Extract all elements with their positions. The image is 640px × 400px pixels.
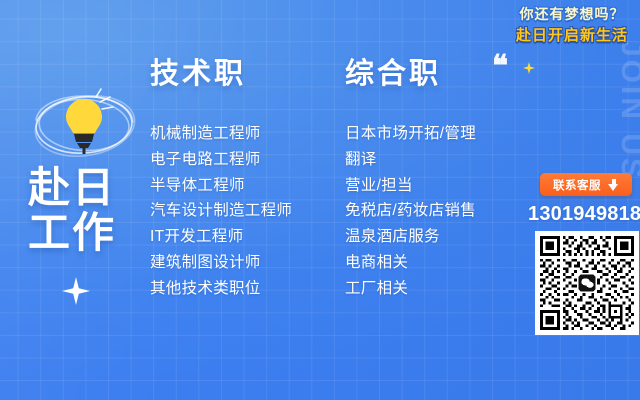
column-technical: 技术职 机械制造工程师 电子电路工程师 半导体工程师 汽车设计制造工程师 IT开… (150, 60, 292, 302)
list-item: 汽车设计制造工程师 (150, 198, 292, 224)
page-title-line-1: 赴日 (28, 166, 116, 211)
slogan-block: 你还有梦想吗？ 赴日开启新生活 (516, 6, 628, 45)
join-us-watermark: JOIN US (616, 40, 640, 181)
column-general: 综合职 日本市场开拓/管理 翻译 营业/担当 免税店/药妆店销售 温泉酒店服务 … (345, 60, 476, 302)
job-list-general: 日本市场开拓/管理 翻译 营业/担当 免税店/药妆店销售 温泉酒店服务 电商相关… (345, 121, 476, 302)
job-list-technical: 机械制造工程师 电子电路工程师 半导体工程师 汽车设计制造工程师 IT开发工程师… (150, 121, 292, 302)
list-item: 工厂相关 (345, 276, 476, 302)
arrow-down-icon (608, 179, 619, 191)
list-item: 翻译 (345, 147, 476, 173)
slogan-line-2: 赴日开启新生活 (516, 27, 628, 46)
poster-canvas: JOIN US 你还有梦想吗？ 赴日开启新生活 ❝ (0, 0, 640, 400)
list-item: 免税店/药妆店销售 (345, 198, 476, 224)
page-title-line-2: 工作 (28, 211, 116, 256)
list-item: 营业/担当 (345, 173, 476, 199)
list-item: 机械制造工程师 (150, 121, 292, 147)
lightbulb-icon (22, 82, 146, 166)
contact-support-button[interactable]: 联系客服 (540, 173, 632, 196)
list-item: 电子电路工程师 (150, 147, 292, 173)
list-item: 日本市场开拓/管理 (345, 121, 476, 147)
quote-mark-icon: ❝ (492, 52, 508, 82)
slogan-line-1: 你还有梦想吗？ (516, 6, 628, 24)
list-item: 温泉酒店服务 (345, 224, 476, 250)
qr-code[interactable] (535, 231, 639, 335)
page-title: 赴日 工作 (28, 166, 116, 256)
list-item: 其他技术类职位 (150, 276, 292, 302)
column-heading-technical: 技术职 (150, 60, 292, 89)
list-item: 电商相关 (345, 250, 476, 276)
phone-number: 13019498186 (528, 203, 640, 226)
list-item: IT开发工程师 (150, 224, 292, 250)
contact-support-label: 联系客服 (553, 177, 601, 193)
column-heading-general: 综合职 (345, 60, 476, 89)
list-item: 半导体工程师 (150, 173, 292, 199)
list-item: 建筑制图设计师 (150, 250, 292, 276)
